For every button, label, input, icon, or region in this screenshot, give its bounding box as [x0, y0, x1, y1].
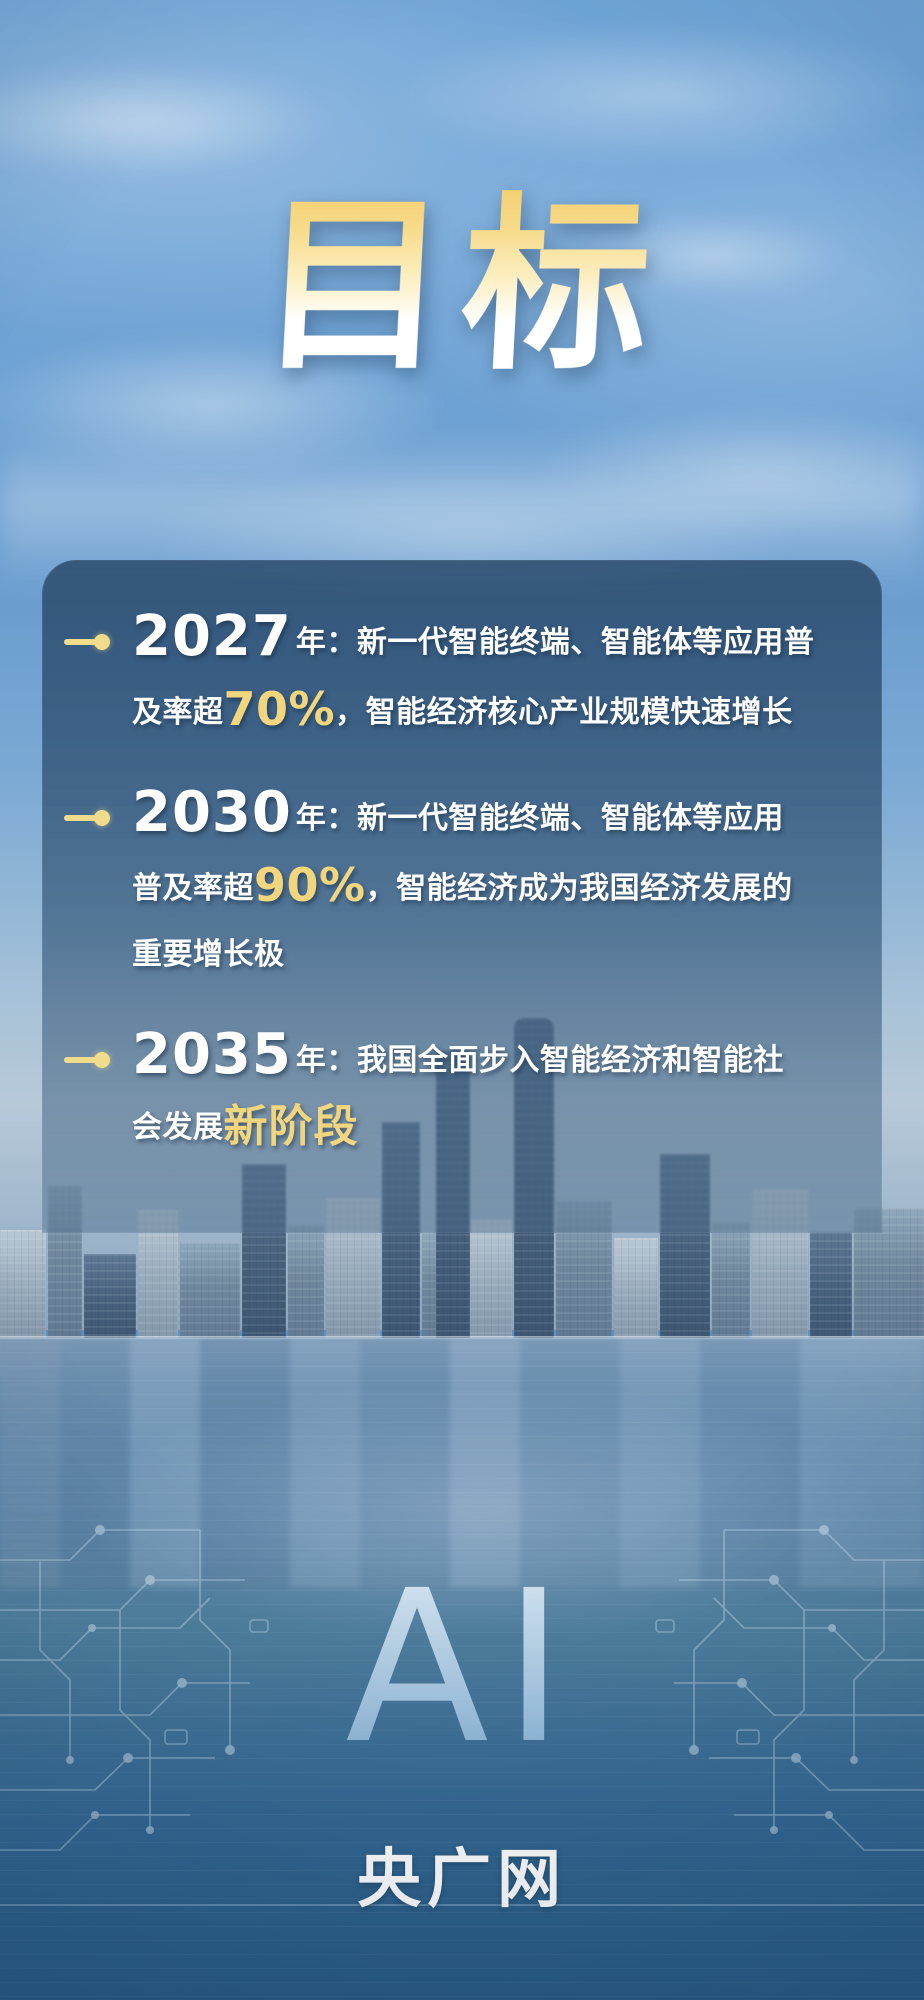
cloud-decor [380, 20, 924, 170]
ai-watermark: AI [0, 1545, 924, 1790]
goal-line-primary: 2027年：新一代智能终端、智能体等应用普 [58, 604, 842, 676]
goal-text: ，智能经济核心产业规模快速增长 [335, 696, 793, 729]
goal-text: 年：新一代智能终端、智能体等应用 [296, 802, 784, 835]
goals-card: 2027年：新一代智能终端、智能体等应用普及率超70%，智能经济核心产业规模快速… [42, 560, 882, 1233]
goals-list: 2027年：新一代智能终端、智能体等应用普及率超70%，智能经济核心产业规模快速… [42, 560, 882, 1161]
bullet-marker-icon [64, 810, 118, 826]
goal-text: 年：我国全面步入智能经济和智能社 [296, 1044, 784, 1077]
goal-line-continued: 重要增长极 [58, 922, 842, 988]
page-title: 目标 [255, 188, 669, 385]
shoreline-divider [0, 1336, 924, 1340]
goal-line-primary: 2035年：我国全面步入智能经济和智能社 [58, 1022, 842, 1094]
goal-item: 2027年：新一代智能终端、智能体等应用普及率超70%，智能经济核心产业规模快速… [58, 604, 842, 746]
goal-line-primary: 2030年：新一代智能终端、智能体等应用 [58, 780, 842, 852]
goal-text: ，智能经济成为我国经济发展的 [366, 872, 793, 905]
goal-item: 2030年：新一代智能终端、智能体等应用普及率超90%，智能经济成为我国经济发展… [58, 780, 842, 988]
poster-title-wrap: 目标 [0, 188, 924, 385]
goal-text: 年：新一代智能终端、智能体等应用普 [296, 626, 815, 659]
goal-highlight-value: 90% [254, 858, 366, 912]
brand-logo: 央广网 [0, 1828, 924, 1920]
goal-line-continued: 及率超70%，智能经济核心产业规模快速增长 [58, 676, 842, 746]
bullet-marker-icon [64, 1052, 118, 1068]
goal-line-continued: 会发展新阶段 [58, 1094, 842, 1161]
goal-text: 普及率超 [132, 872, 254, 905]
bullet-marker-icon [64, 634, 118, 650]
goal-highlight-value: 70% [224, 682, 336, 736]
goal-text: 重要增长极 [132, 938, 285, 971]
goal-year: 2030 [132, 780, 292, 845]
goal-line-continued: 普及率超90%，智能经济成为我国经济发展的 [58, 852, 842, 922]
goal-year: 2035 [132, 1022, 292, 1087]
goal-year: 2027 [132, 604, 292, 669]
goal-highlight-phrase: 新阶段 [224, 1102, 359, 1151]
goal-text: 及率超 [132, 696, 224, 729]
goal-item: 2035年：我国全面步入智能经济和智能社会发展新阶段 [58, 1022, 842, 1161]
cloud-decor [0, 60, 340, 180]
goal-text: 会发展 [132, 1111, 224, 1144]
poster-root: 目标 2027年：新一代智能终端、智能体等应用普及率超70%，智能经济核心产业规… [0, 0, 924, 2000]
